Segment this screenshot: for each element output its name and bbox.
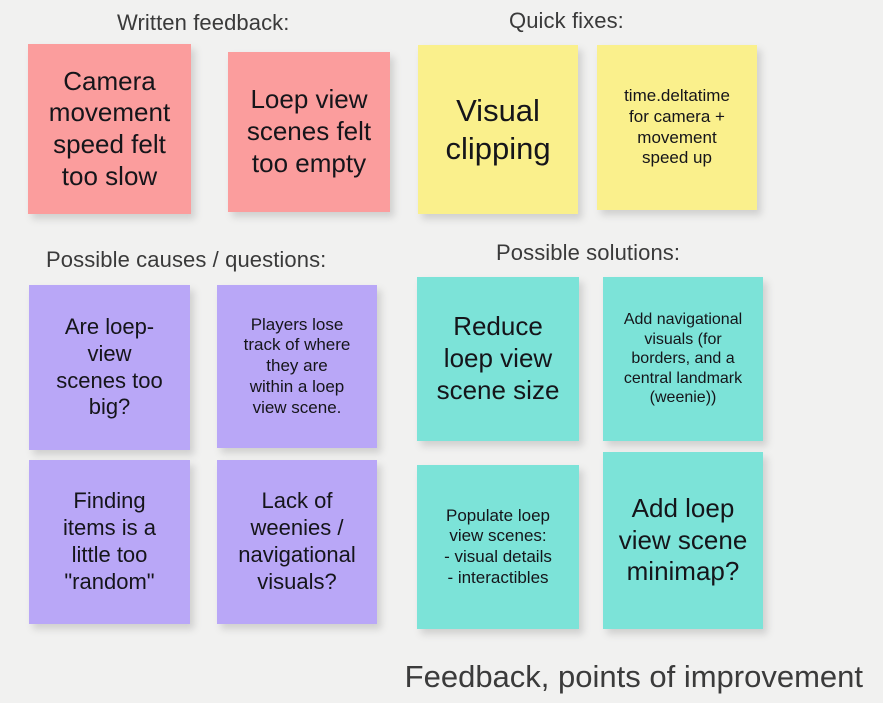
sticky-note-loep-view-scenes-empty[interactable]: Loep view scenes felt too empty — [228, 52, 390, 212]
sticky-note-visual-clipping[interactable]: Visual clipping — [418, 45, 578, 214]
feedback-board: Written feedback: Quick fixes: Possible … — [0, 0, 883, 703]
sticky-note-time-deltatime[interactable]: time.deltatime for camera + movement spe… — [597, 45, 757, 210]
section-title-possible-solutions: Possible solutions: — [496, 240, 680, 266]
sticky-note-lack-of-weenies[interactable]: Lack of weenies / navigational visuals? — [217, 460, 377, 624]
sticky-note-reduce-loep-view-scene-size[interactable]: Reduce loep view scene size — [417, 277, 579, 441]
section-title-quick-fixes: Quick fixes: — [509, 8, 624, 34]
sticky-note-populate-loep-view-scenes[interactable]: Populate loep view scenes: - visual deta… — [417, 465, 579, 629]
page-title: Feedback, points of improvement — [405, 659, 863, 695]
sticky-note-add-loep-view-scene-minimap[interactable]: Add loep view scene minimap? — [603, 452, 763, 629]
sticky-note-players-lose-track[interactable]: Players lose track of where they are wit… — [217, 285, 377, 448]
sticky-note-add-navigational-visuals[interactable]: Add navigational visuals (for borders, a… — [603, 277, 763, 441]
sticky-note-finding-items-random[interactable]: Finding items is a little too "random" — [29, 460, 190, 624]
sticky-note-loep-view-scenes-too-big[interactable]: Are loep- view scenes too big? — [29, 285, 190, 450]
section-title-possible-causes: Possible causes / questions: — [46, 247, 326, 273]
sticky-note-camera-movement-speed[interactable]: Camera movement speed felt too slow — [28, 44, 191, 214]
section-title-written-feedback: Written feedback: — [117, 10, 290, 36]
